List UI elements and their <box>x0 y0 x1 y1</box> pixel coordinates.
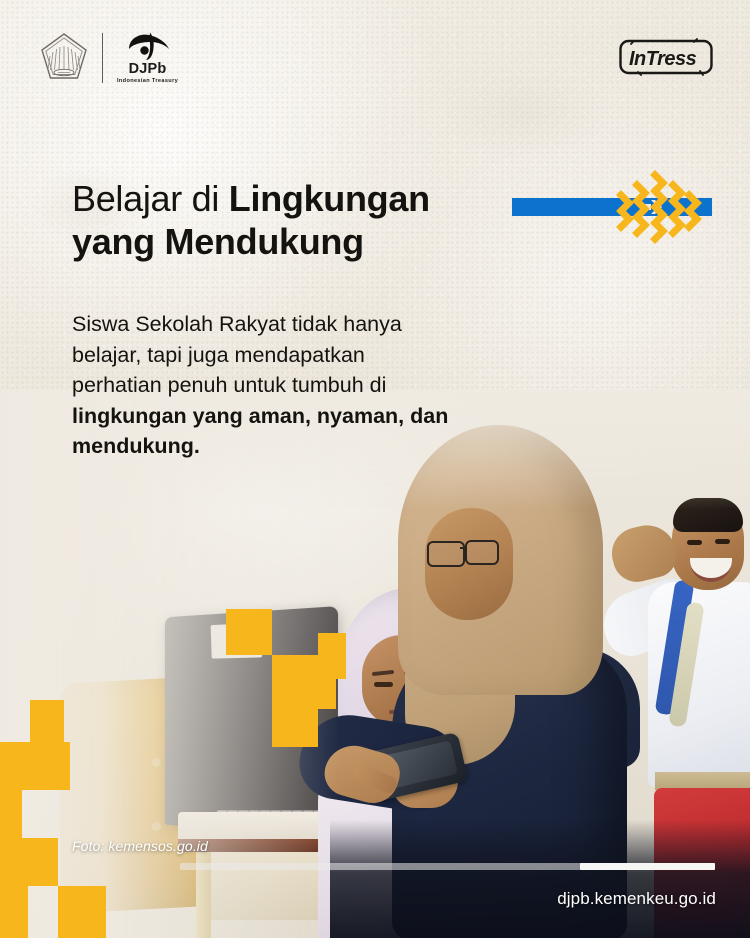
headline-light-part: Belajar di <box>72 178 229 219</box>
intress-logo: InTress <box>618 38 714 76</box>
checker-square <box>58 886 106 938</box>
checker-square <box>30 700 64 742</box>
checker-square <box>318 679 336 709</box>
logo-group: DJPb Indonesian Treasury <box>40 31 178 85</box>
page-title: Belajar di Lingkungan yang Mendukung <box>72 178 522 264</box>
svg-text:InTress: InTress <box>629 48 697 70</box>
checker-square <box>22 742 70 790</box>
checker-square <box>0 790 22 838</box>
checker-square <box>0 742 24 790</box>
checker-square <box>318 633 346 679</box>
kemenkeu-pentagon-emblem <box>40 32 88 84</box>
headline-bold-part-2: yang Mendukung <box>72 221 364 262</box>
motif-group <box>512 193 750 221</box>
yellow-zigzag-diamond-motif <box>609 165 705 251</box>
progress-indicator-fill <box>580 863 715 870</box>
body-copy-bold: lingkungan yang aman, nyaman, dan menduk… <box>72 404 448 459</box>
djpb-subtitle: Indonesian Treasury <box>117 79 178 85</box>
headline-bold-part-1: Lingkungan <box>229 178 430 219</box>
checker-square <box>226 609 272 655</box>
poster-root: 066 <box>0 0 750 938</box>
website-url: djpb.kemenkeu.go.id <box>557 889 716 909</box>
djpb-name: DJPb <box>129 62 167 77</box>
header: DJPb Indonesian Treasury InTress <box>0 0 750 120</box>
photo-credit: Foto: kemensos.go.id <box>72 838 208 854</box>
djpb-swoosh-mark <box>124 31 172 61</box>
body-copy: Siswa Sekolah Rakyat tidak hanya belajar… <box>72 309 452 462</box>
logo-divider <box>102 33 103 83</box>
checker-square <box>0 886 28 938</box>
yellow-checker-decoration <box>0 0 750 938</box>
djpb-logo: DJPb Indonesian Treasury <box>117 31 178 85</box>
checker-square <box>272 655 318 701</box>
checker-square <box>0 838 58 886</box>
body-copy-regular: Siswa Sekolah Rakyat tidak hanya belajar… <box>72 312 402 397</box>
checker-square <box>272 701 318 747</box>
